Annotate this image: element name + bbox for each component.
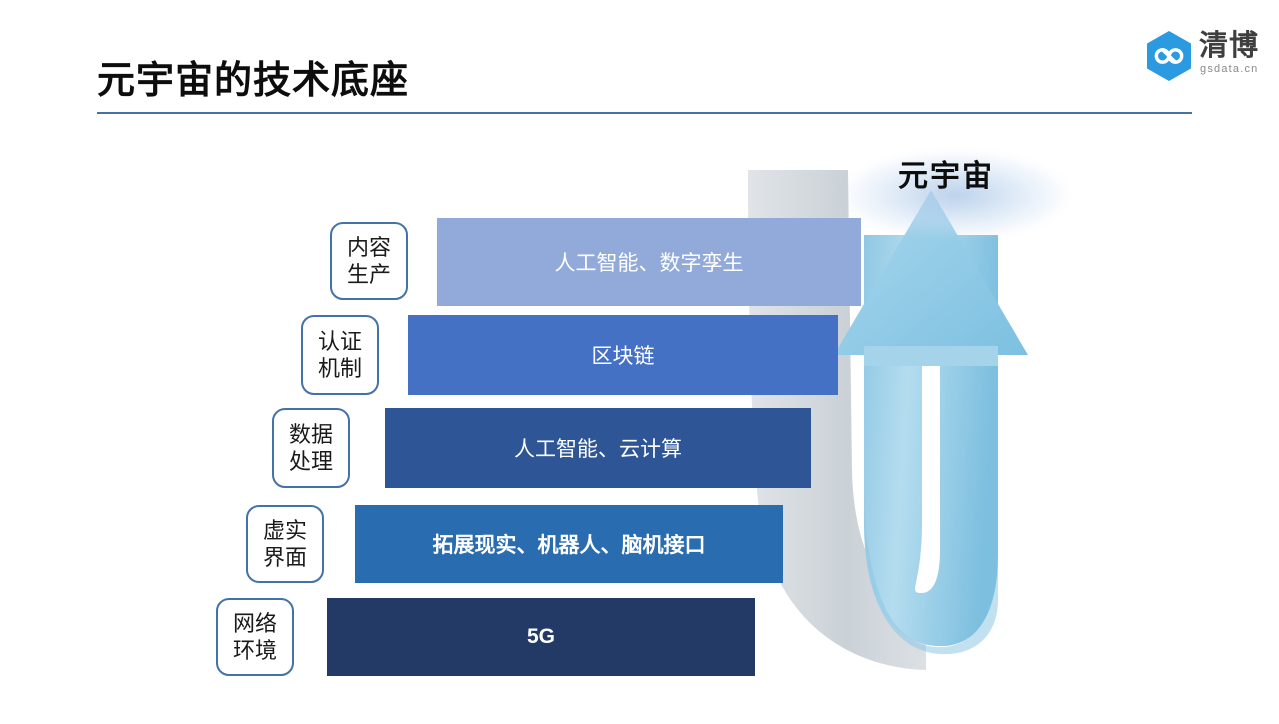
layer-tag-line: 虚实 [263, 517, 307, 544]
layer-bar-label: 区块链 [592, 340, 655, 370]
layer-bar-4[interactable]: 拓展现实、机器人、脑机接口 [355, 505, 783, 583]
layer-bar-label: 拓展现实、机器人、脑机接口 [433, 529, 706, 559]
layer-tag-5[interactable]: 网络环境 [216, 598, 294, 676]
arrow-caption: 元宇宙 [898, 158, 994, 196]
layer-bar-3[interactable]: 人工智能、云计算 [385, 408, 811, 488]
layer-bar-label: 人工智能、数字孪生 [555, 247, 744, 277]
layer-tag-line: 生产 [347, 261, 391, 288]
layer-tag-1[interactable]: 内容生产 [330, 222, 408, 300]
layer-tag-2[interactable]: 认证机制 [301, 315, 379, 395]
layer-tag-4[interactable]: 虚实界面 [246, 505, 324, 583]
gsdata-hexagon-logo-icon [1143, 30, 1195, 82]
layer-tag-line: 认证 [318, 328, 362, 355]
page-title: 元宇宙的技术底座 [97, 62, 409, 100]
layer-tag-line: 界面 [263, 544, 307, 571]
layer-bar-label: 5G [527, 625, 555, 649]
brand-logo: 清博 gsdata.cn [1143, 28, 1275, 84]
layer-tag-line: 数据 [289, 421, 333, 448]
layer-tag-line: 网络 [233, 610, 277, 637]
slide-canvas: 元宇宙的技术底座 清博 gsdata.cn [0, 0, 1279, 719]
layer-tag-3[interactable]: 数据处理 [272, 408, 350, 488]
layer-tag-line: 机制 [318, 355, 362, 382]
layer-bar-label: 人工智能、云计算 [514, 433, 682, 463]
brand-name-cn: 清博 [1199, 30, 1259, 62]
layer-tag-line: 内容 [347, 234, 391, 261]
layer-bar-1[interactable]: 人工智能、数字孪生 [437, 218, 861, 306]
layer-tag-line: 处理 [289, 448, 333, 475]
layer-bar-5[interactable]: 5G [327, 598, 755, 676]
brand-domain: gsdata.cn [1200, 63, 1259, 75]
layer-tag-line: 环境 [233, 637, 277, 664]
title-divider [97, 112, 1192, 114]
layer-bar-2[interactable]: 区块链 [408, 315, 838, 395]
